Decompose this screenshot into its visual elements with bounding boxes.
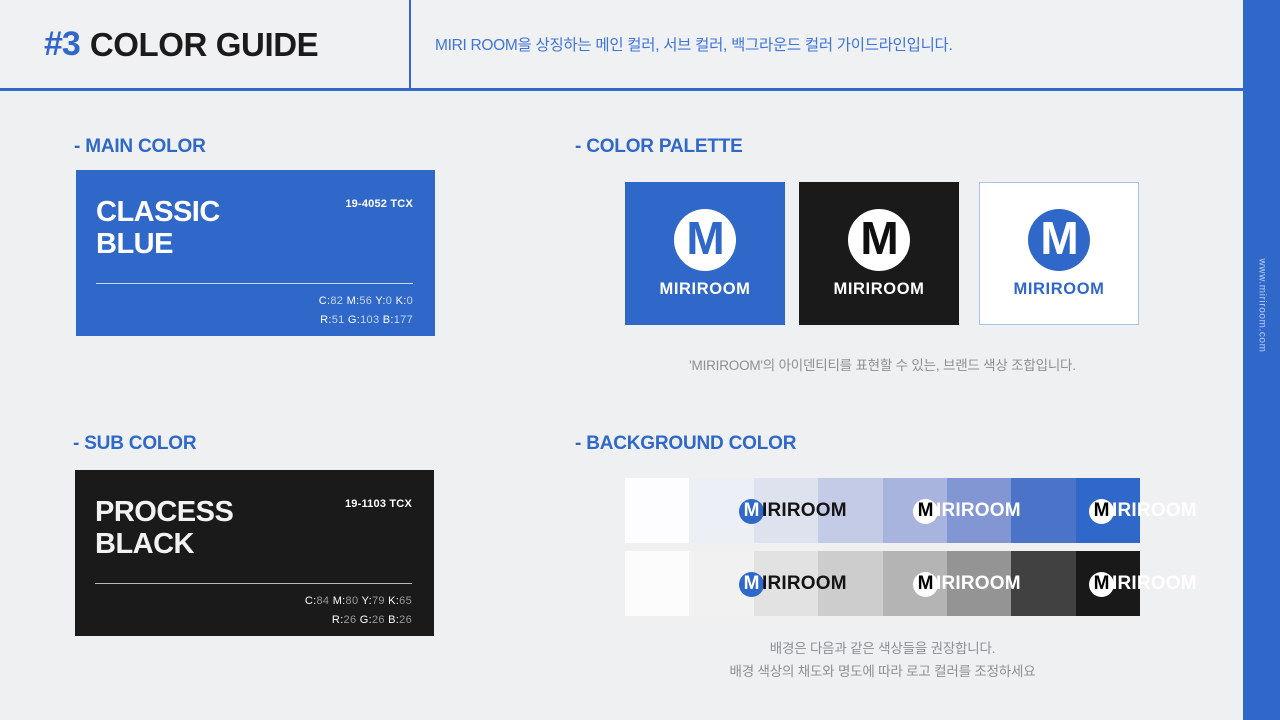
cmyk-y-label: Y: [362,595,372,607]
cmyk-c-value: 84 [317,595,330,607]
slide-header: #3 COLOR GUIDE MIRI ROOM을 상징하는 메인 컬러, 서브… [0,0,1243,91]
logo-wordmark: IRIROOM [1112,573,1197,595]
logo-letter: M [744,574,760,593]
rgb-r-value: 51 [332,314,345,326]
logo-mark-icon: M [848,209,910,271]
rgb-g-value: 26 [372,614,385,626]
cmyk-y-label: Y: [375,295,385,307]
rgb-b-label: B: [388,614,399,626]
sub-color-tcx-code: 19-1103 TCX [345,498,412,510]
cmyk-m-label: M: [347,295,360,307]
page-title: COLOR GUIDE [90,28,318,61]
rgb-g-label: G: [348,314,360,326]
header-subtitle-group: MIRI ROOM을 상징하는 메인 컬러, 서브 컬러, 백그라운드 컬러 가… [411,0,1243,88]
ramp-swatch [625,478,689,543]
logo-wordmark: IRIROOM [762,500,847,522]
logo-mark-icon: M [913,572,938,597]
logo-wordmark: MIRIROOM [1014,280,1105,299]
cmyk-k-value: 0 [407,295,413,307]
cmyk-c-label: C: [305,595,317,607]
ramp-swatch [625,551,689,616]
sidebar-website-url: www.miriroom.com [1256,258,1267,352]
logo-wordmark: IRIROOM [936,500,1021,522]
main-color-values: C:82 M:56 Y:0 K:0 R:51 G:103 B:177 [76,292,435,331]
sub-color-divider [95,583,412,584]
logo-mark-icon: M [1028,209,1090,271]
background-caption: 배경은 다음과 같은 색상들을 권장합니다. 배경 색상의 채도와 명도에 따라… [575,638,1190,684]
sub-color-cmyk: C:84 M:80 Y:79 K:65 [75,592,434,611]
cmyk-m-label: M: [333,595,346,607]
rgb-b-value: 177 [394,314,413,326]
sub-color-rgb: R:26 G:26 B:26 [75,611,434,630]
logo-mark-icon: M [1089,572,1114,597]
ramp-logo-light: M IRIROOM [1089,496,1197,526]
section-label-main-color: - MAIN COLOR [74,136,206,158]
slide-number: #3 [44,27,80,61]
main-color-tcx-code: 19-4052 TCX [345,198,413,210]
logo-letter: M [1040,215,1077,261]
logo-letter: M [1094,574,1110,593]
header-title-group: #3 COLOR GUIDE [0,0,411,88]
background-ramp-gray [625,551,1140,616]
section-label-color-palette: - COLOR PALETTE [575,136,743,158]
cmyk-c-label: C: [319,295,331,307]
palette-tile-blue: M MIRIROOM [625,182,785,325]
cmyk-y-value: 79 [372,595,385,607]
main-color-name-line2: BLUE [96,228,411,260]
sub-color-name-line2: BLACK [95,528,410,560]
color-guide-slide: #3 COLOR GUIDE MIRI ROOM을 상징하는 메인 컬러, 서브… [0,0,1280,720]
logo-wordmark: MIRIROOM [660,280,751,299]
rgb-b-value: 26 [399,614,412,626]
logo-wordmark: IRIROOM [936,573,1021,595]
cmyk-k-label: K: [396,295,407,307]
ramp-swatch [1011,551,1075,616]
rgb-g-value: 103 [360,314,379,326]
background-caption-line2: 배경 색상의 채도와 명도에 따라 로고 컬러를 조정하세요 [575,661,1190,684]
rgb-r-value: 26 [344,614,357,626]
cmyk-m-value: 80 [346,595,359,607]
cmyk-k-value: 65 [399,595,412,607]
logo-letter: M [1094,501,1110,520]
section-label-sub-color: - SUB COLOR [73,433,196,455]
logo-letter: M [918,501,934,520]
background-ramp-blue [625,478,1140,543]
ramp-logo-dark: M IRIROOM [739,569,847,599]
palette-caption: 'MIRIROOM'의 아이덴티티를 표현할 수 있는, 브랜드 색상 조합입니… [575,355,1190,378]
logo-mark-icon: M [739,499,764,524]
rgb-r-label: R: [320,314,332,326]
logo-mark-icon: M [1089,499,1114,524]
logo-mark-icon: M [913,499,938,524]
palette-tile-white: M MIRIROOM [979,182,1139,325]
section-label-background-color: - BACKGROUND COLOR [575,433,796,455]
logo-letter: M [860,215,897,261]
rgb-r-label: R: [332,614,344,626]
header-subtitle: MIRI ROOM을 상징하는 메인 컬러, 서브 컬러, 백그라운드 컬러 가… [435,33,953,55]
right-sidebar: www.miriroom.com [1243,0,1280,720]
main-color-rgb: R:51 G:103 B:177 [76,311,435,330]
cmyk-y-value: 0 [386,295,392,307]
ramp-swatch [1011,478,1075,543]
logo-letter: M [918,574,934,593]
logo-letter: M [686,215,723,261]
cmyk-m-value: 56 [359,295,372,307]
logo-mark-icon: M [674,209,736,271]
background-caption-line1: 배경은 다음과 같은 색상들을 권장합니다. [575,638,1190,661]
logo-wordmark: IRIROOM [762,573,847,595]
cmyk-c-value: 82 [330,295,343,307]
palette-tile-black: M MIRIROOM [799,182,959,325]
rgb-b-label: B: [383,314,394,326]
cmyk-k-label: K: [388,595,399,607]
ramp-logo-dark: M IRIROOM [739,496,847,526]
logo-wordmark: MIRIROOM [834,280,925,299]
logo-mark-icon: M [739,572,764,597]
main-color-divider [96,283,413,284]
main-color-cmyk: C:82 M:56 Y:0 K:0 [76,292,435,311]
logo-wordmark: IRIROOM [1112,500,1197,522]
ramp-logo-light: M IRIROOM [1089,569,1197,599]
sub-color-values: C:84 M:80 Y:79 K:65 R:26 G:26 B:26 [75,592,434,631]
logo-letter: M [744,501,760,520]
rgb-g-label: G: [360,614,372,626]
ramp-logo-light: M IRIROOM [913,569,1021,599]
ramp-logo-light: M IRIROOM [913,496,1021,526]
